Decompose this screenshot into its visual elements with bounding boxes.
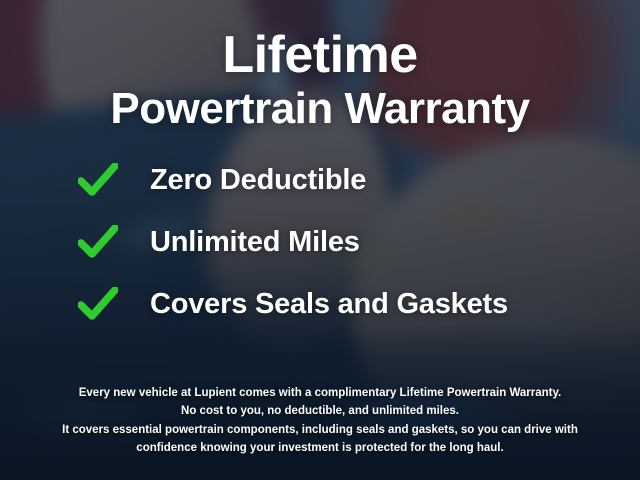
check-icon: [78, 225, 118, 259]
benefit-label: Unlimited Miles: [150, 226, 360, 259]
check-icon: [78, 287, 118, 321]
promo-banner: Lifetime Powertrain Warranty Zero Deduct…: [0, 0, 640, 480]
banner-content: Lifetime Powertrain Warranty Zero Deduct…: [0, 0, 640, 480]
benefit-item-unlimited-miles: Unlimited Miles: [78, 225, 640, 259]
check-icon: [78, 163, 118, 197]
description-line-4: confidence knowing your investment is pr…: [26, 439, 614, 458]
headline-line-1: Lifetime: [0, 28, 640, 82]
benefit-item-seals-and-gaskets: Covers Seals and Gaskets: [78, 287, 640, 321]
benefit-label: Zero Deductible: [150, 164, 366, 197]
description-line-1: Every new vehicle at Lupient comes with …: [26, 384, 614, 403]
description-paragraph: Every new vehicle at Lupient comes with …: [0, 384, 640, 459]
headline: Lifetime Powertrain Warranty: [0, 0, 640, 133]
description-line-2: No cost to you, no deductible, and unlim…: [26, 402, 614, 421]
benefit-label: Covers Seals and Gaskets: [150, 288, 508, 321]
headline-line-2: Powertrain Warranty: [0, 84, 640, 133]
benefit-list: Zero Deductible Unlimited Miles Covers S…: [0, 163, 640, 321]
benefit-item-zero-deductible: Zero Deductible: [78, 163, 640, 197]
description-line-3: It covers essential powertrain component…: [26, 421, 614, 440]
